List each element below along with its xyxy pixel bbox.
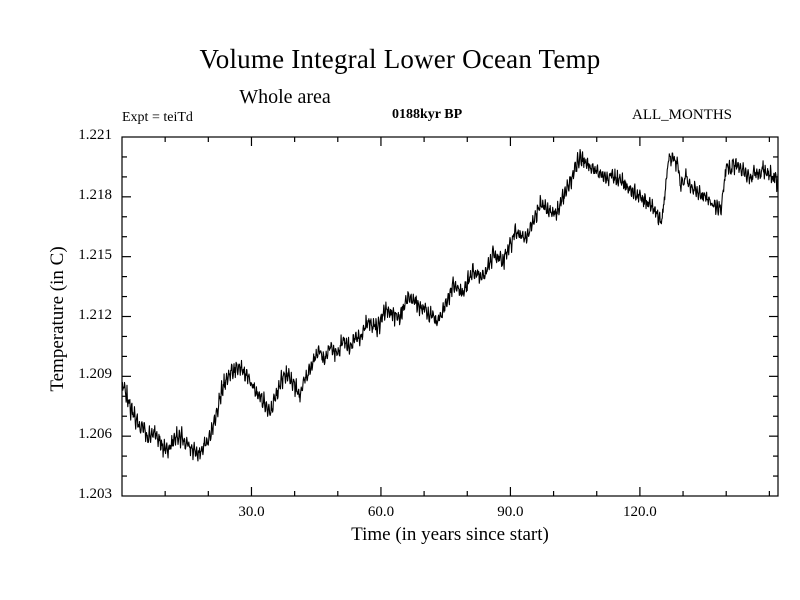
chart-figure: Volume Integral Lower Ocean Temp Whole a…: [0, 0, 800, 600]
x-tick-label: 30.0: [211, 504, 291, 521]
y-tick-label: 1.215: [0, 247, 112, 264]
data-line-series: [122, 150, 778, 461]
x-tick-label: 120.0: [600, 504, 680, 521]
y-axis-ticks: [122, 157, 778, 476]
y-tick-label: 1.206: [0, 426, 112, 443]
x-tick-label: 90.0: [470, 504, 550, 521]
y-tick-label: 1.212: [0, 307, 112, 324]
y-tick-label: 1.221: [0, 127, 112, 144]
y-tick-label: 1.218: [0, 187, 112, 204]
y-tick-label: 1.203: [0, 486, 112, 503]
x-axis-title: Time (in years since start): [122, 524, 778, 546]
experiment-label: Expt = teiTd: [122, 110, 193, 126]
page-title: Volume Integral Lower Ocean Temp: [0, 44, 800, 75]
plot-frame: [122, 137, 778, 496]
y-tick-label: 1.209: [0, 366, 112, 383]
period-label: 0188kyr BP: [392, 107, 462, 123]
x-tick-label: 60.0: [341, 504, 421, 521]
x-axis-ticks: [165, 137, 769, 496]
months-label: ALL_MONTHS: [632, 107, 732, 124]
chart-subtitle: Whole area: [0, 86, 570, 109]
